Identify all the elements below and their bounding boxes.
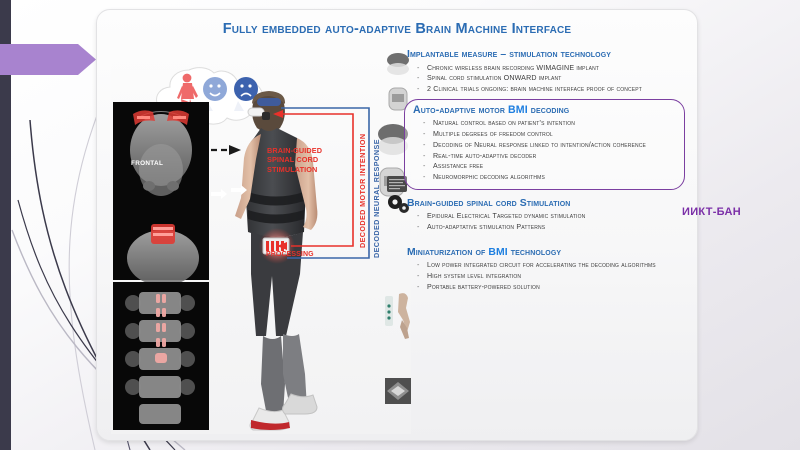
section-decoding: Auto-adaptive motor BMI decoding Natural… [404, 99, 685, 190]
figure-label-decoded-motor-intention: DECODED MOTOR INTENTION [358, 134, 367, 249]
bmi-system-figure: BRAIN-GUIDED SPINAL CORD STIMULATION PRO… [111, 42, 411, 434]
content-card: Fully embedded auto-adaptive Brain Machi… [96, 9, 698, 441]
section-implantable: Implantable measure – stimulation techno… [407, 48, 685, 95]
bullet-item: Neuromorphic decoding algorithms [423, 173, 674, 183]
bullet-item: Decoding of Neural response linked to in… [423, 141, 674, 151]
figure-label-brain-guided: BRAIN-GUIDED SPINAL CORD STIMULATION [267, 146, 337, 174]
section-heading-post: decoding [528, 104, 570, 116]
bullet-item: Real-time auto-adaptive decoder [423, 152, 674, 162]
section-bullet-list: Low power integrated circuit for acceler… [407, 261, 685, 292]
figure-label-processing: PROCESSING [266, 251, 314, 258]
section-heading-pre: Auto-adaptive motor [413, 104, 508, 116]
page-title: Fully embedded auto-adaptive Brain Machi… [97, 21, 697, 37]
bullet-item: High system level integration [417, 272, 681, 282]
section-bullet-list: Chronic wireless brain recording WIMAGIN… [407, 64, 685, 95]
section-heading: Miniaturization of BMI technology [407, 246, 685, 260]
brain-xray-panel [113, 102, 209, 214]
section-heading: Implantable measure – stimulation techno… [407, 48, 685, 62]
section-heading-pre: Miniaturization of [407, 247, 488, 258]
section-spinal: Brain-guided spinal cord Stimulation Epi… [407, 197, 685, 233]
bullet-item: Multiple degrees of freedom control [423, 130, 674, 140]
bullet-item: Natural control based on patient’s inten… [423, 119, 674, 129]
bullet-item: Portable battery-powered solution [417, 283, 681, 293]
section-heading: Auto-adaptive motor BMI decoding [413, 104, 678, 118]
figure-label-frontal: FRONTAL [131, 160, 163, 167]
sections-column: Implantable measure – stimulation techno… [407, 48, 685, 438]
organization-label: ИИКТ-БАН [682, 206, 741, 218]
bullet-item: Assistance free [423, 162, 674, 172]
bullet-item: 2 Clinical trials ongoing: brain machine… [417, 85, 681, 95]
bullet-item: Low power integrated circuit for acceler… [417, 261, 681, 271]
figure-label-decoded-neural-response: DECODED NEURAL RESPONSE [372, 139, 381, 258]
bullet-item: Epidural Electrical Targeted dynamic sti… [417, 212, 681, 222]
spine-xray-panel [113, 282, 209, 430]
bullet-item: Auto-adaptative stimulation Patterns [417, 223, 681, 233]
purple-arrow-banner [0, 44, 96, 75]
section-miniaturization: Miniaturization of BMI technology Low po… [407, 246, 685, 293]
bullet-item: Spinal cord stimulation ONWARD implant [417, 74, 681, 84]
section-heading: Brain-guided spinal cord Stimulation [407, 197, 685, 211]
section-bullet-list: Natural control based on patient’s inten… [413, 119, 678, 183]
section-heading-highlight: BMI [508, 104, 528, 116]
brain-xray-lateral-panel [113, 214, 209, 286]
section-heading-highlight: BMI [488, 247, 507, 258]
implant-device-icon [387, 53, 409, 75]
bullet-item: Chronic wireless brain recording WIMAGIN… [417, 64, 681, 74]
slide-canvas: Fully embedded auto-adaptive Brain Machi… [0, 0, 800, 450]
section-bullet-list: Epidural Electrical Targeted dynamic sti… [407, 212, 685, 232]
section-heading-post: technology [508, 247, 561, 258]
